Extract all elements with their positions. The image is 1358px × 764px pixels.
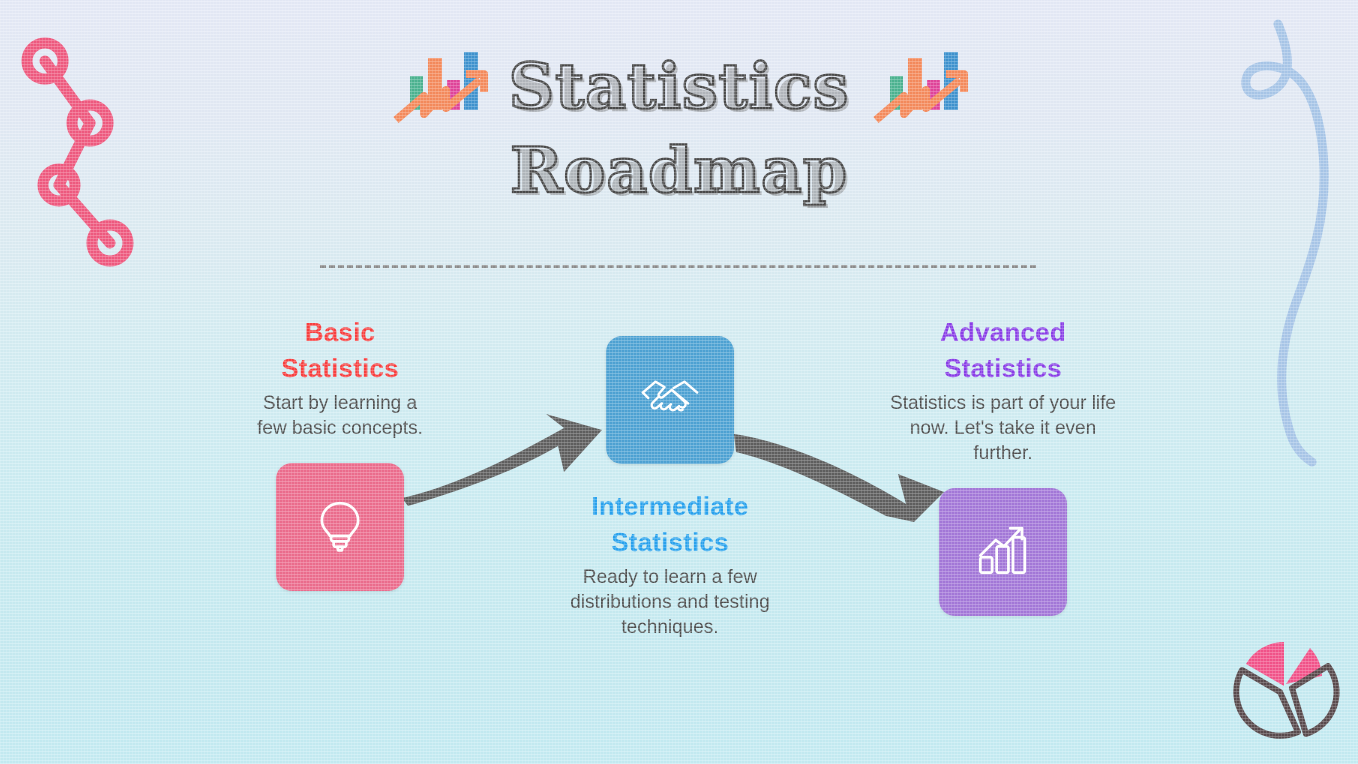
page-title: Statistics Roadmap — [0, 44, 1358, 212]
stage-advanced-heading-line-1: Advanced — [888, 314, 1118, 350]
title-line-2: Roadmap — [0, 128, 1358, 212]
stage-intermediate-heading-line-2: Statistics — [556, 524, 784, 560]
stage-intermediate-description: Ready to learn a few distributions and t… — [556, 565, 784, 640]
title-line-1: Statistics — [0, 44, 1358, 128]
stage-advanced-card[interactable] — [939, 488, 1067, 616]
handshake-icon — [637, 369, 703, 432]
stage-intermediate-heading: Intermediate Statistics — [556, 488, 784, 560]
stage-basic-card[interactable] — [276, 463, 404, 591]
stage-basic-heading: Basic Statistics — [250, 314, 430, 386]
stage-advanced-heading: Advanced Statistics — [888, 314, 1118, 386]
stage-advanced-statistics: Advanced Statistics Statistics is part o… — [888, 314, 1118, 616]
stage-basic-statistics: Basic Statistics Start by learning a few… — [250, 314, 430, 591]
stage-intermediate-heading-line-1: Intermediate — [556, 488, 784, 524]
dashed-divider — [320, 265, 1036, 268]
lightbulb-icon — [311, 496, 369, 559]
stage-basic-heading-line-2: Statistics — [250, 350, 430, 386]
bar-chart-growth-icon — [974, 521, 1032, 584]
stage-intermediate-statistics: Intermediate Statistics Ready to learn a… — [556, 336, 784, 640]
stage-intermediate-card[interactable] — [606, 336, 734, 464]
pie-chart-icon — [1228, 632, 1346, 744]
stage-advanced-description: Statistics is part of your life now. Let… — [888, 391, 1118, 466]
stage-advanced-heading-line-2: Statistics — [888, 350, 1118, 386]
infographic-canvas: Statistics Roadmap Basic Statistics Star… — [0, 0, 1358, 764]
stage-basic-description: Start by learning a few basic concepts. — [250, 391, 430, 441]
stage-basic-heading-line-1: Basic — [250, 314, 430, 350]
